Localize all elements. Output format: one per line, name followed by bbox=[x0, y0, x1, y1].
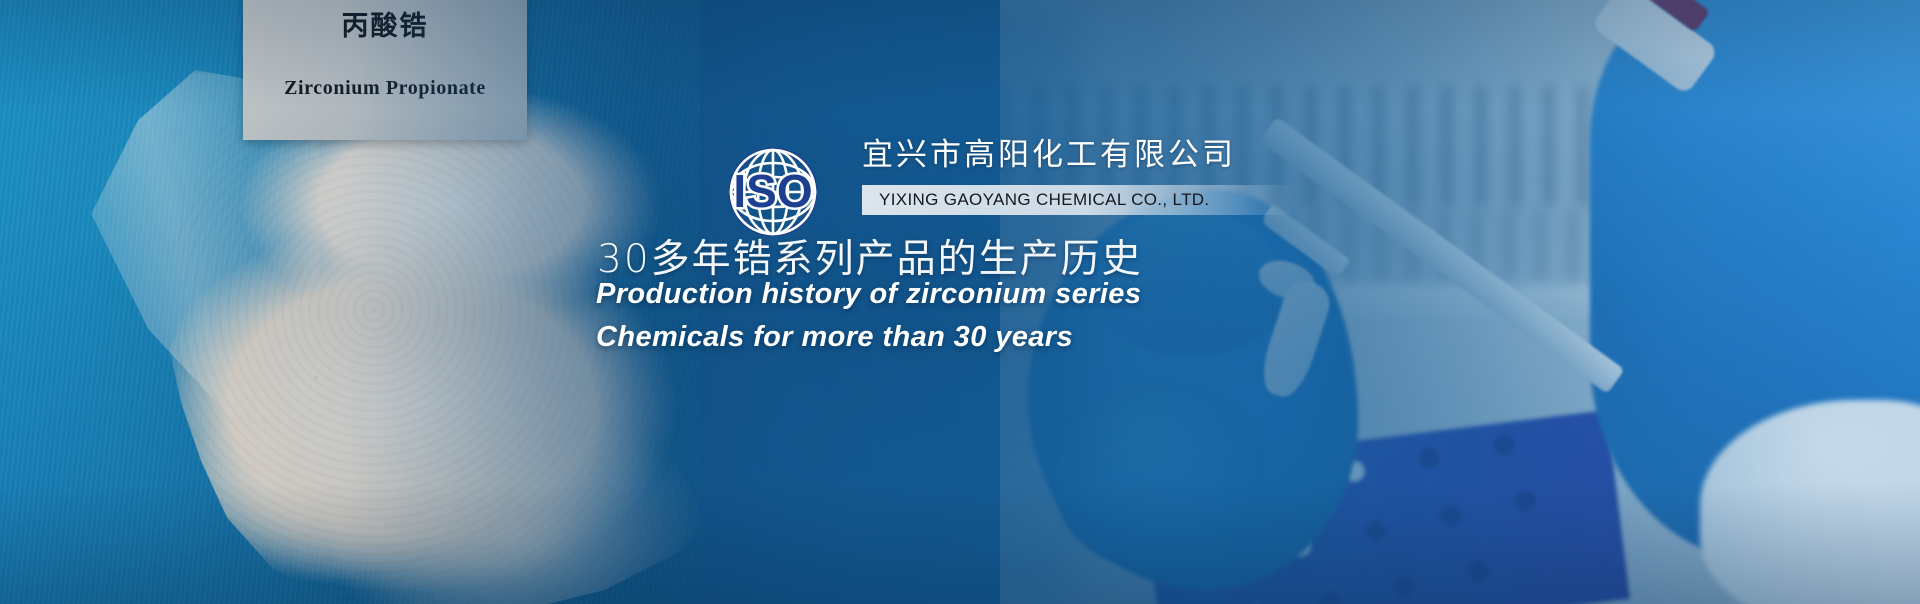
promo-banner: 丙酸锆 Zirconium Propionate bbox=[0, 0, 1920, 604]
brand-text-block: 宜兴市高阳化工有限公司 YIXING GAOYANG CHEMICAL CO.,… bbox=[862, 138, 1294, 215]
headline-english-line-1: Production history of zirconium series bbox=[596, 278, 1141, 311]
iso-logo-text: ISO bbox=[733, 165, 812, 217]
company-name-cn: 宜兴市高阳化工有限公司 bbox=[862, 138, 1294, 172]
headline-english-line-2: Chemicals for more than 30 years bbox=[596, 321, 1073, 354]
headline-chinese: 30多年锆系列产品的生产历史 bbox=[597, 228, 1143, 284]
brand-lockup: ISO 宜兴市高阳化工有限公司 YIXING GAOYANG CHEMICAL … bbox=[712, 136, 1472, 228]
company-name-en: YIXING GAOYANG CHEMICAL CO., LTD. bbox=[862, 190, 1210, 210]
iso-globe-icon: ISO bbox=[712, 140, 834, 236]
company-name-en-bar: YIXING GAOYANG CHEMICAL CO., LTD. bbox=[862, 185, 1294, 215]
banner-content: ISO 宜兴市高阳化工有限公司 YIXING GAOYANG CHEMICAL … bbox=[0, 0, 1920, 604]
